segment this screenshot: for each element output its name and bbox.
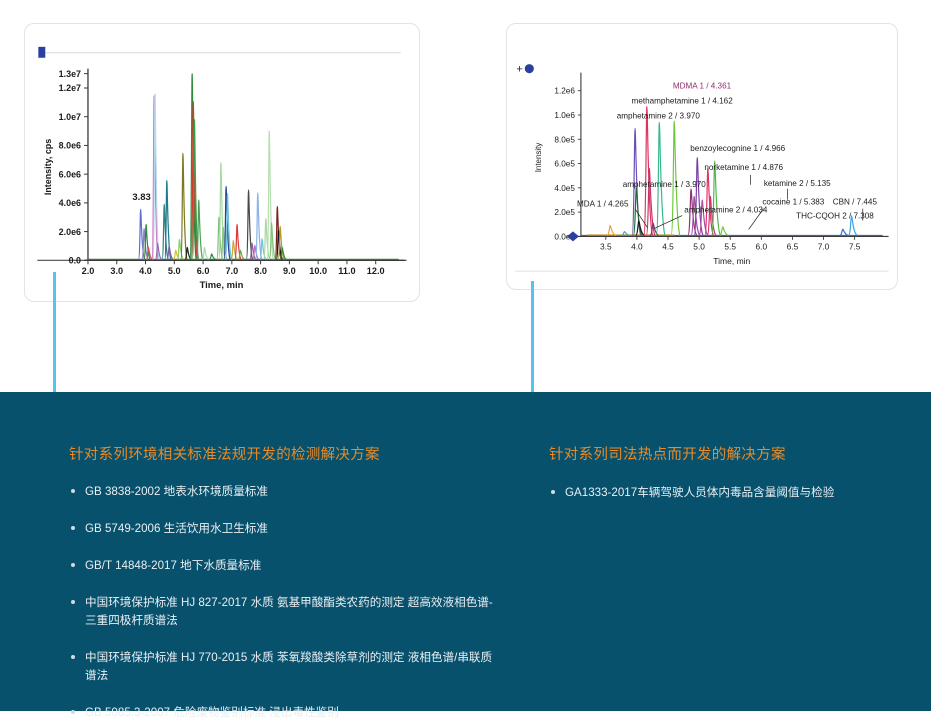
chart-card-right: +0.0e02.0e54.0e56.0e58.0e51.0e61.2e63.54… xyxy=(506,23,898,290)
info-list-right: GA1333-2017车辆驾驶人员体内毒品含量阈值与检验 xyxy=(549,484,899,502)
axis-text: 2.0 xyxy=(82,266,95,276)
peak-label: amphetamine 2 / 4.034 xyxy=(684,206,768,215)
list-item: GB/T 14848-2017 地下水质量标准 xyxy=(69,557,499,575)
peak-trace xyxy=(720,227,729,236)
axis-text: 4.0 xyxy=(139,266,152,276)
peak-trace xyxy=(181,153,187,259)
peak-label: amphetamine 1 / 3.970 xyxy=(623,180,707,189)
peak-label: amphetamine 2 / 3.970 xyxy=(617,111,701,120)
list-item: GB 3838-2002 地表水环境质量标准 xyxy=(69,483,499,501)
axis-text: 6.0 xyxy=(756,241,768,251)
info-heading-right: 针对系列司法热点而开发的解决方案 xyxy=(549,392,899,464)
axis-text: Time, min xyxy=(713,256,750,266)
peak-label: CBN / 7.445 xyxy=(833,198,878,207)
peak-label: MDMA 1 / 4.361 xyxy=(673,82,732,91)
peak-trace xyxy=(177,239,183,259)
axis-text: 7.0 xyxy=(818,241,830,251)
y-axis-title: Intensity xyxy=(534,143,543,173)
peak-trace xyxy=(694,157,703,235)
axis-text: 11.0 xyxy=(338,266,355,276)
info-column-right: 针对系列司法热点而开发的解决方案 GA1333-2017车辆驾驶人员体内毒品含量… xyxy=(549,392,899,502)
y-axis-title: Intensity, cps xyxy=(43,139,53,195)
info-panel: 针对系列环境相关标准法规开发的检测解决方案 GB 3838-2002 地表水环境… xyxy=(0,392,931,711)
axis-text: 1.0e7 xyxy=(59,112,81,122)
peak-label: ketamine 2 / 5.135 xyxy=(764,179,831,188)
peak-label: methamphetamine 1 / 4.162 xyxy=(632,96,734,105)
leader-line xyxy=(636,210,648,228)
peak-label: norketamine 1 / 4.876 xyxy=(704,163,783,172)
axis-text: 2.0e5 xyxy=(554,208,575,217)
axis-text: 6.0e5 xyxy=(554,160,575,169)
info-column-left: 针对系列环境相关标准法规开发的检测解决方案 GB 3838-2002 地表水环境… xyxy=(69,392,499,722)
axis-text: 3.0 xyxy=(110,266,123,276)
axis-text: 6.5 xyxy=(787,241,799,251)
axis-text: 5.5 xyxy=(724,241,736,251)
chart-card-left: 0.02.0e64.0e66.0e68.0e61.0e71.2e71.3e72.… xyxy=(24,23,420,302)
list-item: GB 5085.3-2007 危险废物鉴别标准 浸出毒性鉴别 xyxy=(69,704,499,722)
peak-label: MDA 1 / 4.265 xyxy=(577,200,629,209)
axis-text: 5.0 xyxy=(693,241,705,251)
axis-text: 3.83 xyxy=(132,191,150,202)
peak-trace xyxy=(607,225,616,235)
axis-text: 1.3e7 xyxy=(59,69,81,79)
peak-trace xyxy=(264,219,270,260)
info-list-left: GB 3838-2002 地表水环境质量标准GB 5749-2006 生活饮用水… xyxy=(69,483,499,722)
axis-text: 9.0 xyxy=(283,266,296,276)
page-root: 0.02.0e64.0e66.0e68.0e61.0e71.2e71.3e72.… xyxy=(0,0,931,711)
axis-text: Time, min xyxy=(200,279,244,290)
peak-label: cocaine 1 / 5.383 xyxy=(762,198,824,207)
peak-trace xyxy=(712,161,721,235)
peak-group xyxy=(139,74,287,260)
axis-text: 1.0e6 xyxy=(554,111,575,120)
right-chromatogram-chart: +0.0e02.0e54.0e56.0e58.0e51.0e61.2e63.54… xyxy=(507,24,897,289)
info-heading-left: 针对系列环境相关标准法规开发的检测解决方案 xyxy=(69,392,499,464)
axis-text: 7.5 xyxy=(849,241,861,251)
axis-text: 4.0e6 xyxy=(59,198,81,208)
axis-text: 1.2e6 xyxy=(554,87,575,96)
axis-text: 3.5 xyxy=(600,241,612,251)
axis-text: 0.0 xyxy=(69,255,81,265)
list-item: 中国环境保护标准 HJ 827-2017 水质 氨基甲酸酯类农药的测定 超高效液… xyxy=(69,594,499,630)
peak-trace xyxy=(197,200,203,259)
peak-trace xyxy=(840,229,849,235)
peak-trace xyxy=(210,254,216,259)
axis-text: 4.0e5 xyxy=(554,184,575,193)
axis-text: 10.0 xyxy=(309,266,327,276)
left-chromatogram-chart: 0.02.0e64.0e66.0e68.0e61.0e71.2e71.3e72.… xyxy=(25,24,419,301)
axis-text: 2.0e6 xyxy=(59,227,81,237)
blue-square-marker xyxy=(38,47,45,58)
blue-circle-marker xyxy=(525,64,534,73)
list-item: GA1333-2017车辆驾驶人员体内毒品含量阈值与检验 xyxy=(549,484,899,502)
axis-text: 4.0 xyxy=(631,241,643,251)
axis-text: 5.0 xyxy=(168,266,181,276)
peak-trace xyxy=(202,247,208,259)
axis-text: 12.0 xyxy=(367,266,385,276)
axis-text: + xyxy=(516,64,522,76)
axis-text: 7.0 xyxy=(225,266,238,276)
list-item: 中国环境保护标准 HJ 770-2015 水质 苯氧羧酸类除草剂的测定 液相色谱… xyxy=(69,649,499,685)
list-item: GB 5749-2006 生活饮用水卫生标准 xyxy=(69,520,499,538)
axis-text: 6.0 xyxy=(197,266,210,276)
axis-text: 8.0e5 xyxy=(554,135,575,144)
axis-text: 6.0e6 xyxy=(59,169,81,179)
axis-text: 8.0 xyxy=(254,266,267,276)
peak-label: benzoylecognine 1 / 4.966 xyxy=(690,144,785,153)
axis-text: 4.5 xyxy=(662,241,674,251)
axis-text: 8.0e6 xyxy=(59,141,81,151)
axis-text: 1.2e7 xyxy=(59,83,81,93)
